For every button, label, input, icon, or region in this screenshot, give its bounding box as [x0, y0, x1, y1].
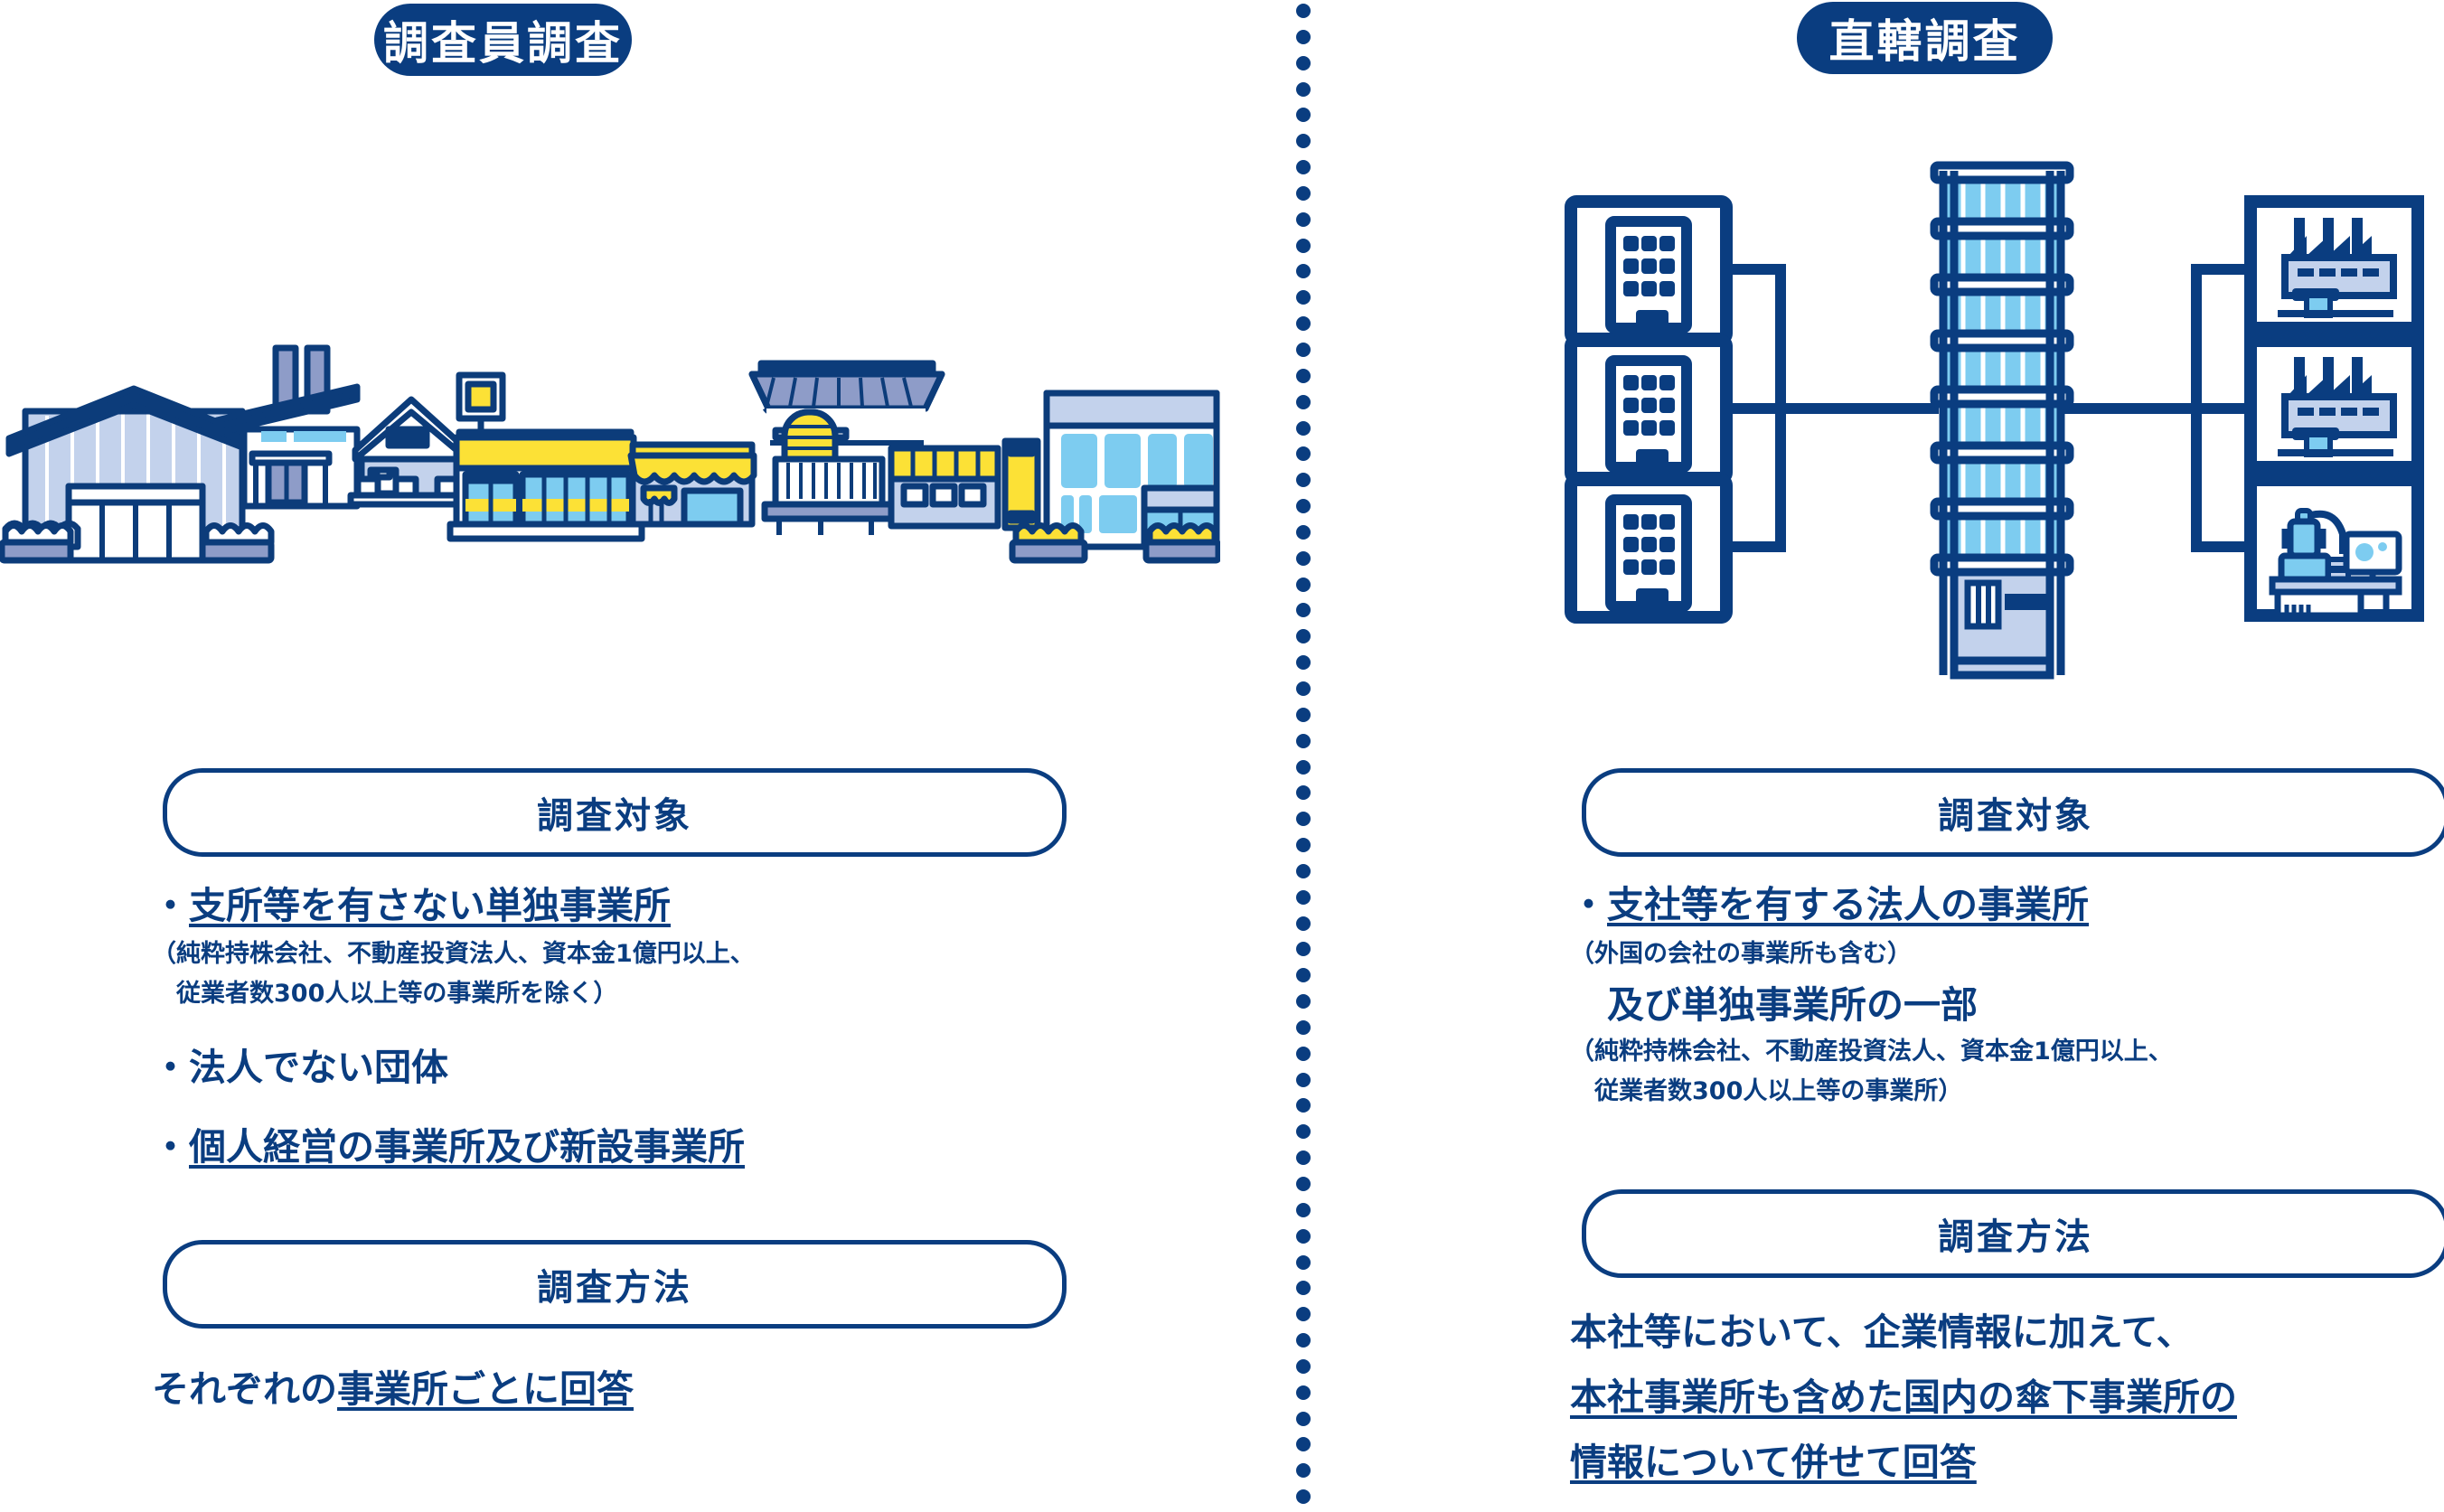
- divider-dot: [1296, 446, 1311, 461]
- right-header-pill: 直轄調査: [1797, 2, 2053, 74]
- left-method-text: 事業所ごとに回答: [337, 1367, 634, 1411]
- awning-shop-icon: [631, 445, 754, 524]
- divider-dot: [1296, 916, 1311, 931]
- divider-dot: [1296, 942, 1311, 956]
- bullet-marker: ・: [1570, 883, 1607, 926]
- izakaya-icon: [752, 363, 1038, 535]
- divider-dot: [1296, 1229, 1311, 1244]
- machine-workstation-icon: [2251, 480, 2418, 615]
- right-method-text-2: 本社事業所も含めた国内の傘下事業所の: [1570, 1376, 2237, 1419]
- right-method-line-2: 本社事業所も含めた国内の傘下事業所の: [1570, 1376, 2237, 1419]
- divider-dot: [1296, 760, 1311, 775]
- left-header-label: 調査員調査: [383, 7, 623, 72]
- right-method-text-3: 情報について併せて回答: [1570, 1441, 1977, 1484]
- divider-dot: [1296, 785, 1311, 800]
- right-target-line-2: 及び単独事業所の一部: [1570, 983, 1978, 1027]
- divider-dot: [1296, 1098, 1311, 1113]
- left-target-line-1: ・支所等を有さない単独事業所: [152, 884, 671, 927]
- office-building-icon: [1571, 202, 1726, 339]
- left-column: 調査員調査: [0, 0, 1283, 1512]
- vertical-dotted-divider: [1296, 0, 1311, 1512]
- divider-dot: [1296, 30, 1311, 44]
- right-method-line-3: 情報について併せて回答: [1570, 1441, 1977, 1484]
- planter-icon: [202, 526, 271, 561]
- right-column: 直轄調査: [1324, 0, 2444, 1512]
- left-section-label: 調査方法: [537, 1258, 692, 1310]
- right-section-pill-survey-target: 調査対象: [1582, 768, 2444, 857]
- right-target-text-1: 支社等を有する法人の事業所: [1607, 883, 2089, 926]
- divider-dot: [1296, 968, 1311, 982]
- divider-dot: [1296, 629, 1311, 643]
- divider-dot: [1296, 82, 1311, 97]
- divider-dot: [1296, 525, 1311, 540]
- divider-dot: [1296, 343, 1311, 357]
- divider-dot: [1296, 290, 1311, 305]
- office-building-icon: [1571, 480, 1726, 617]
- left-target-line-3: ・個人経営の事業所及び新設事業所: [152, 1125, 745, 1169]
- divider-dot: [1296, 1463, 1311, 1478]
- divider-dot: [1296, 1281, 1311, 1295]
- left-section-pill-survey-method: 調査方法: [163, 1240, 1067, 1329]
- planter-icon: [1012, 526, 1085, 561]
- right-target-note-2a: （純粋持株会社、不動産投資法人、資本金1億円以上、: [1570, 1038, 2173, 1066]
- divider-dot: [1296, 1412, 1311, 1426]
- divider-dot: [1296, 316, 1311, 331]
- convenience-store-icon: [450, 375, 642, 539]
- divider-dot: [1296, 1020, 1311, 1035]
- left-illustration-streetscape: [0, 343, 1220, 615]
- divider-dot: [1296, 421, 1311, 436]
- right-section-pill-survey-method: 調査方法: [1582, 1189, 2444, 1278]
- right-target-line-1: ・支社等を有する法人の事業所: [1570, 883, 2089, 926]
- office-building-icon: [1571, 341, 1726, 478]
- right-section-label: 調査方法: [1938, 1207, 2093, 1260]
- bullet-marker: ・: [152, 1046, 189, 1089]
- divider-dot: [1296, 499, 1311, 513]
- factory-icon: [2251, 341, 2418, 467]
- divider-dot: [1296, 369, 1311, 383]
- left-target-line-2: ・法人でない団体: [152, 1046, 448, 1089]
- right-target-note-2b: 従業者数300人以上等の事業所）: [1570, 1077, 1962, 1106]
- right-header-label: 直轄調査: [1829, 5, 2021, 70]
- planter-icon: [1146, 526, 1218, 561]
- divider-dot: [1296, 134, 1311, 148]
- left-header-pill: 調査員調査: [374, 4, 632, 76]
- divider-dot: [1296, 734, 1311, 748]
- divider-dot: [1296, 994, 1311, 1009]
- divider-dot: [1296, 1307, 1311, 1321]
- divider-dot: [1296, 1359, 1311, 1374]
- left-target-text-1: 支所等を有さない単独事業所: [189, 884, 671, 927]
- right-method-line-1: 本社等において、企業情報に加えて、: [1570, 1310, 2194, 1354]
- divider-dot: [1296, 812, 1311, 826]
- factory-icon: [2251, 202, 2418, 328]
- divider-dot: [1296, 681, 1311, 696]
- divider-dot: [1296, 56, 1311, 70]
- divider-dot: [1296, 838, 1311, 852]
- divider-dot: [1296, 1124, 1311, 1139]
- divider-dot: [1296, 708, 1311, 722]
- divider-dot: [1296, 1203, 1311, 1217]
- divider-dot: [1296, 1177, 1311, 1191]
- right-target-note-1: （外国の会社の事業所も含む）: [1570, 940, 1912, 969]
- divider-dot: [1296, 4, 1311, 18]
- divider-dot: [1296, 1073, 1311, 1087]
- divider-dot: [1296, 1489, 1311, 1504]
- left-section-pill-survey-target: 調査対象: [163, 768, 1067, 857]
- divider-dot: [1296, 186, 1311, 201]
- small-store-icon: [351, 399, 468, 504]
- left-section-label: 調査対象: [537, 786, 692, 839]
- left-method-line-1: それぞれの事業所ごとに回答: [152, 1367, 634, 1411]
- planter-icon: [2, 526, 70, 561]
- divider-dot: [1296, 864, 1311, 878]
- left-target-note-1b: 従業者数300人以上等の事業所を除く）: [152, 980, 617, 1009]
- left-method-prefix: それぞれの: [152, 1367, 337, 1411]
- right-illustration-hq-diagram: [1564, 158, 2444, 709]
- divider-dot: [1296, 1150, 1311, 1165]
- divider-dot: [1296, 1255, 1311, 1270]
- infographic-board: 調査員調査: [0, 0, 2444, 1512]
- left-target-text-2: 法人でない団体: [189, 1046, 448, 1089]
- divider-dot: [1296, 655, 1311, 670]
- divider-dot: [1296, 1437, 1311, 1451]
- divider-dot: [1296, 264, 1311, 278]
- right-section-label: 調査対象: [1938, 786, 2093, 839]
- left-target-note-1a: （純粋持株会社、不動産投資法人、資本金1億円以上、: [152, 940, 755, 969]
- divider-dot: [1296, 1333, 1311, 1348]
- divider-dot: [1296, 551, 1311, 566]
- divider-dot: [1296, 1385, 1311, 1400]
- divider-dot: [1296, 1047, 1311, 1061]
- divider-dot: [1296, 108, 1311, 122]
- divider-dot: [1296, 160, 1311, 174]
- divider-dot: [1296, 890, 1311, 905]
- divider-dot: [1296, 603, 1311, 617]
- divider-dot: [1296, 473, 1311, 487]
- headquarters-tower: [1934, 164, 2070, 681]
- divider-dot: [1296, 578, 1311, 592]
- bullet-marker: ・: [152, 884, 189, 927]
- left-target-text-3: 個人経営の事業所及び新設事業所: [189, 1125, 745, 1169]
- bullet-marker: ・: [152, 1125, 189, 1169]
- divider-dot: [1296, 395, 1311, 409]
- divider-dot: [1296, 212, 1311, 227]
- divider-dot: [1296, 239, 1311, 253]
